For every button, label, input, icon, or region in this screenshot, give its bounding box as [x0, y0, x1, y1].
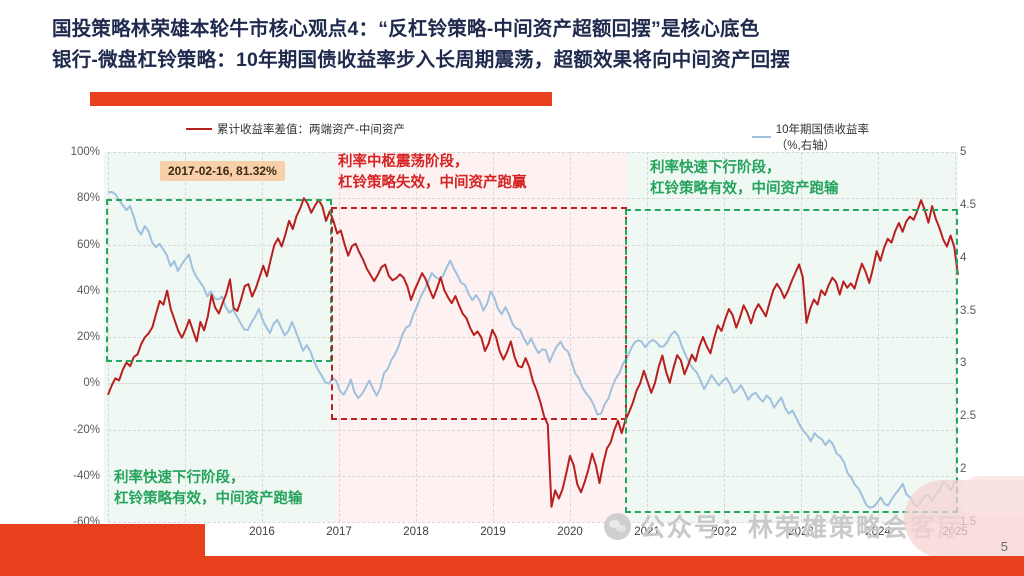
chart-legend: 累计收益率差值：两端资产-中间资产 10年期国债收益率（%,右轴） [186, 121, 886, 141]
decor-bar-bottom [0, 556, 1024, 576]
annotation-phase-1: 利率快速下行阶段， 杠铃策略有效，中间资产跑输 [114, 468, 303, 510]
phase-box-2 [331, 207, 627, 420]
y-axis-left-tick: 60% [50, 239, 100, 251]
y-axis-left-tick: -40% [50, 470, 100, 482]
y-axis-left-tick: 40% [50, 285, 100, 297]
y-axis-right-tick: 2 [960, 463, 1000, 475]
x-axis-tick: 2017 [326, 526, 352, 538]
y-axis-left-tick: -20% [50, 424, 100, 436]
title-line-2: 银行-微盘杠铃策略：10年期国债收益率步入长周期震荡，超额效果将向中间资产回摆 [52, 45, 1002, 76]
y-axis-left-tick: 20% [50, 331, 100, 343]
legend-item-spread: 累计收益率差值：两端资产-中间资产 [186, 121, 405, 137]
legend-item-yield: 10年期国债收益率（%,右轴） [752, 121, 886, 153]
chart-plot-area: 2017-02-16, 81.32% 100% 80% 60% 40% 20% … [108, 152, 954, 522]
title-underline-bar [90, 92, 552, 106]
x-axis-tick: 2018 [403, 526, 429, 538]
chart-canvas: 2017-02-16, 81.32% 100% 80% 60% 40% 20% … [108, 152, 954, 522]
page-title: 国投策略林荣雄本轮牛市核心观点4：“反杠铃策略-中间资产超额回摆”是核心底色 银… [52, 14, 1002, 76]
x-axis-tick: 2019 [480, 526, 506, 538]
title-line-1: 国投策略林荣雄本轮牛市核心观点4：“反杠铃策略-中间资产超额回摆”是核心底色 [52, 14, 1002, 45]
legend-swatch-line-icon [752, 136, 771, 138]
y-axis-right-tick: 5 [960, 146, 1000, 158]
x-axis-tick: 2020 [557, 526, 583, 538]
y-axis-right-tick: 3 [960, 357, 1000, 369]
legend-label-spread: 累计收益率差值：两端资产-中间资产 [217, 121, 405, 137]
legend-label-yield: 10年期国债收益率（%,右轴） [776, 121, 886, 153]
y-axis-right-tick: 4 [960, 252, 1000, 264]
slide-root: 国投策略林荣雄本轮牛市核心观点4：“反杠铃策略-中间资产超额回摆”是核心底色 银… [0, 0, 1024, 576]
x-axis-tick: 2016 [249, 526, 275, 538]
legend-swatch-line-icon [186, 128, 212, 130]
y-axis-right-tick: 4.5 [960, 199, 1000, 211]
annotation-phase-2: 利率中枢震荡阶段， 杠铃策略失效，中间资产跑赢 [338, 152, 527, 194]
annotation-phase-3: 利率快速下行阶段， 杠铃策略有效，中间资产跑输 [650, 158, 839, 200]
wechat-icon [604, 513, 631, 540]
page-number: 5 [1001, 539, 1008, 554]
phase-box-1 [106, 199, 332, 362]
phase-box-3 [625, 209, 958, 513]
y-axis-right-tick: 2.5 [960, 410, 1000, 422]
y-axis-left-tick: 80% [50, 192, 100, 204]
y-axis-left-tick: 0% [50, 377, 100, 389]
y-axis-left-tick: 100% [50, 146, 100, 158]
decor-shape-bottom-right-2 [960, 476, 1024, 516]
y-axis-right-tick: 3.5 [960, 305, 1000, 317]
data-label-peak: 2017-02-16, 81.32% [160, 161, 285, 181]
